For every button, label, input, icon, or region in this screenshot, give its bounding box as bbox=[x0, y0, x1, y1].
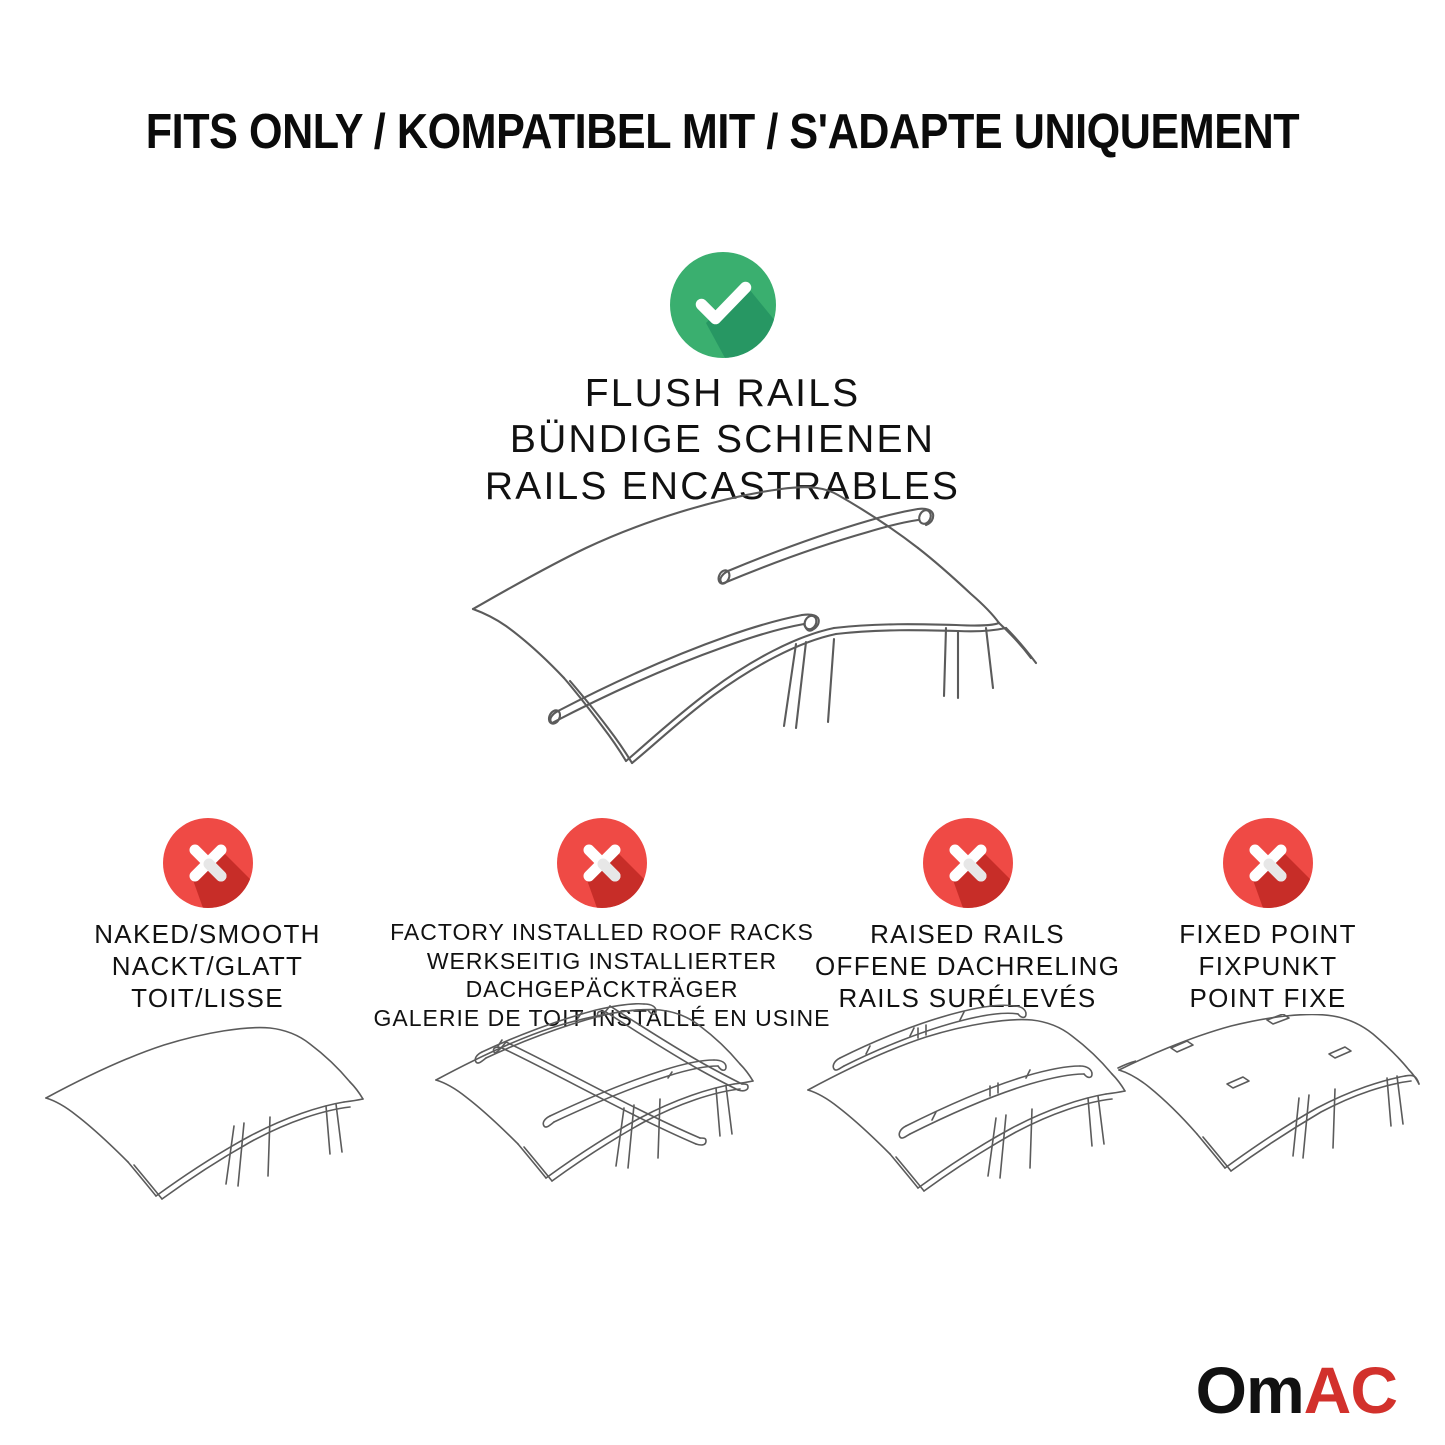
compatible-section: FLUSH RAILS BÜNDIGE SCHIENEN RAILS ENCAS… bbox=[0, 252, 1445, 510]
car-roof-factory-roof-racks-illustration bbox=[428, 996, 776, 1214]
incompatible-column-raised-rails: RAISED RAILS OFFENE DACHRELING RAILS SUR… bbox=[815, 818, 1120, 1015]
column-label-en: FIXED POINT bbox=[1128, 918, 1408, 950]
incompatible-column-naked-smooth: NAKED/SMOOTH NACKT/GLATT TOIT/LISSE bbox=[35, 818, 380, 1015]
car-roof-naked-smooth-illustration bbox=[38, 1014, 378, 1214]
car-roof-with-flush-rails-illustration bbox=[466, 476, 1066, 776]
column-label-fr: POINT FIXE bbox=[1128, 982, 1408, 1014]
compatible-label-de: BÜNDIGE SCHIENEN bbox=[0, 417, 1445, 463]
logo-dark-part: Om bbox=[1196, 1353, 1304, 1427]
x-circle-icon bbox=[923, 818, 1013, 908]
column-label-de: FIXPUNKT bbox=[1128, 950, 1408, 982]
incompatible-column-fixed-point: FIXED POINT FIXPUNKT POINT FIXE bbox=[1128, 818, 1408, 1015]
column-label-de: OFFENE DACHRELING bbox=[815, 950, 1120, 982]
column-label-en: RAISED RAILS bbox=[815, 918, 1120, 950]
column-label-en: FACTORY INSTALLED ROOF RACKS bbox=[372, 918, 832, 947]
column-labels: NAKED/SMOOTH NACKT/GLATT TOIT/LISSE bbox=[35, 918, 380, 1015]
column-label-de: NACKT/GLATT bbox=[35, 950, 380, 982]
page-title: FITS ONLY / KOMPATIBEL MIT / S'ADAPTE UN… bbox=[87, 104, 1359, 160]
car-roof-fixed-point-illustration bbox=[1113, 1014, 1423, 1214]
compatible-label-en: FLUSH RAILS bbox=[0, 371, 1445, 417]
incompatible-columns: NAKED/SMOOTH NACKT/GLATT TOIT/LISSE bbox=[0, 818, 1445, 1238]
column-label-fr: TOIT/LISSE bbox=[35, 982, 380, 1014]
x-circle-icon bbox=[1223, 818, 1313, 908]
omac-logo: OmAC bbox=[1196, 1357, 1397, 1423]
column-labels: FIXED POINT FIXPUNKT POINT FIXE bbox=[1128, 918, 1408, 1015]
x-circle-icon bbox=[557, 818, 647, 908]
x-circle-icon bbox=[163, 818, 253, 908]
column-label-en: NAKED/SMOOTH bbox=[35, 918, 380, 950]
incompatible-column-factory-roof-racks: FACTORY INSTALLED ROOF RACKS WERKSEITIG … bbox=[372, 818, 832, 1032]
column-label-de-1: WERKSEITIG INSTALLIERTER bbox=[372, 947, 832, 976]
car-roof-raised-rails-illustration bbox=[800, 998, 1136, 1214]
logo-accent-part: AC bbox=[1304, 1353, 1397, 1427]
check-circle-icon bbox=[670, 252, 776, 358]
compatibility-infographic: FITS ONLY / KOMPATIBEL MIT / S'ADAPTE UN… bbox=[0, 0, 1445, 1445]
